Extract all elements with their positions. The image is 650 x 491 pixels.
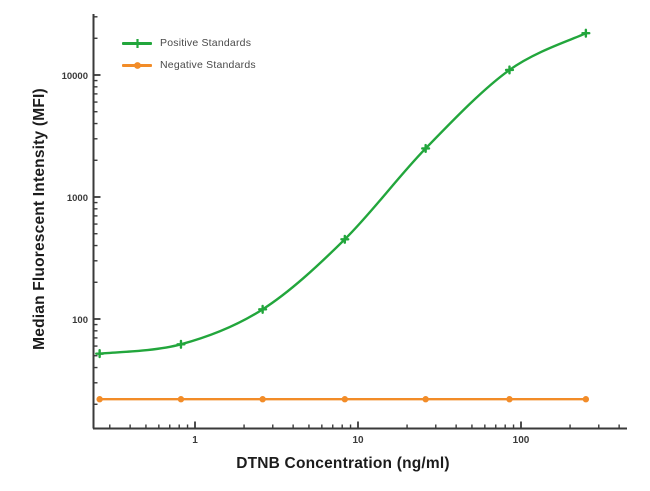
- legend-item-positive: Positive Standards: [122, 32, 256, 54]
- y-tick-label: 10000: [62, 71, 88, 82]
- series-positive-standards: [96, 30, 589, 357]
- y-axis-title: Median Fluorescent Intensity (MFI): [31, 19, 49, 419]
- plot-area: 100100010000 110100: [0, 0, 650, 491]
- y-axis-ticks: [94, 17, 101, 404]
- legend-marker-negative-icon: [122, 59, 152, 71]
- y-tick-label: 1000: [67, 193, 88, 204]
- data-point-marker: [506, 396, 512, 402]
- x-tick-labels: 110100: [192, 435, 530, 446]
- data-point-marker: [178, 396, 184, 402]
- chart-legend: Positive Standards Negative Standards: [122, 32, 256, 76]
- x-tick-label: 10: [352, 435, 364, 446]
- data-point-marker: [342, 396, 348, 402]
- data-point-marker: [422, 396, 428, 402]
- x-tick-label: 100: [513, 435, 530, 446]
- x-axis-title: DTNB Concentration (ng/ml): [93, 455, 593, 473]
- y-tick-label: 100: [72, 315, 88, 326]
- data-point-marker: [583, 396, 589, 402]
- data-point-marker: [259, 396, 265, 402]
- x-axis-ticks: [110, 422, 619, 429]
- data-point-marker: [178, 341, 185, 348]
- data-point-marker: [582, 30, 589, 37]
- data-point-marker: [96, 396, 102, 402]
- chart-figure: 100100010000 110100 Positive Standards N…: [0, 0, 650, 491]
- legend-label-negative: Negative Standards: [160, 59, 256, 71]
- series-line: [100, 33, 586, 353]
- x-tick-label: 1: [192, 435, 198, 446]
- legend-label-positive: Positive Standards: [160, 37, 251, 49]
- y-tick-labels: 100100010000: [62, 71, 88, 326]
- series-negative-standards: [96, 396, 589, 402]
- legend-item-negative: Negative Standards: [122, 54, 256, 76]
- legend-marker-positive-icon: [122, 37, 152, 49]
